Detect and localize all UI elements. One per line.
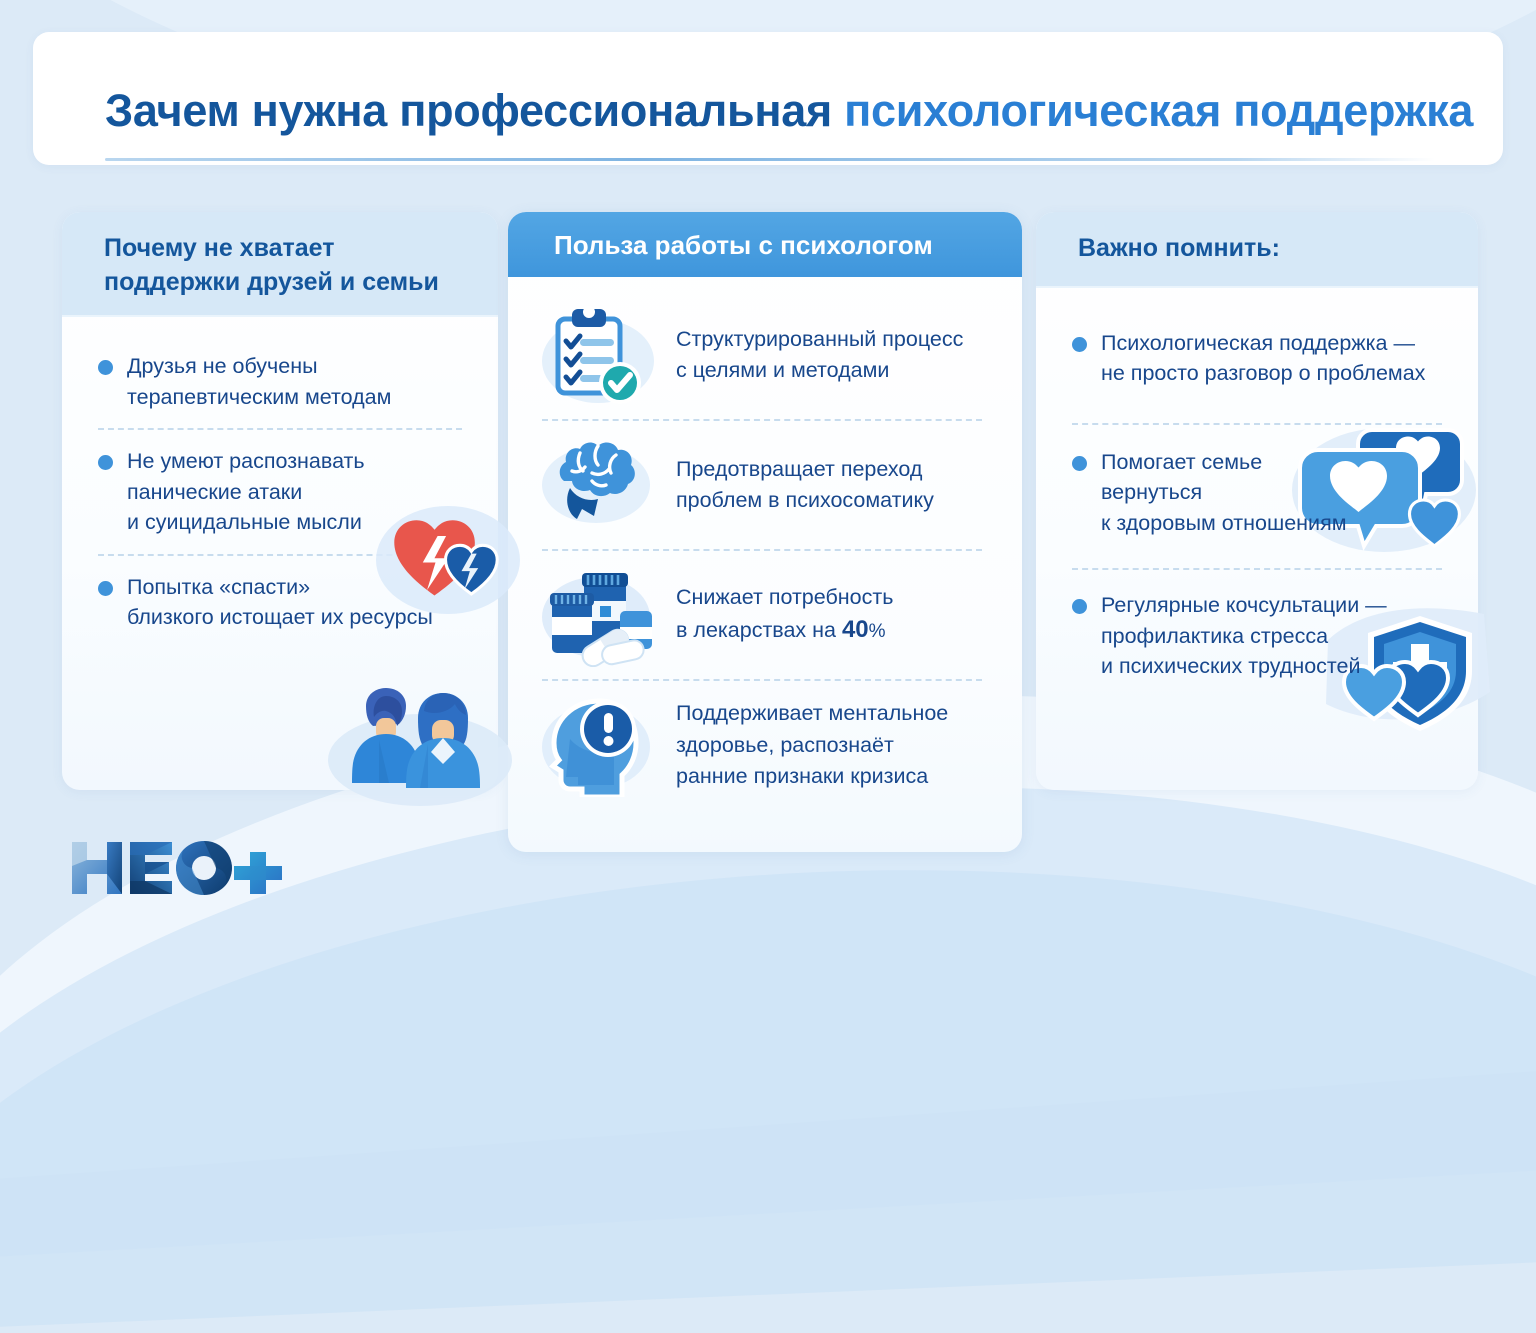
list-item: Друзья не обучены терапевтическим метода… xyxy=(92,335,468,428)
background-wave-3 xyxy=(0,831,1536,1332)
page-title-part-1: Зачем нужна профессиональная xyxy=(105,85,832,136)
page-title-part-2: психологическая поддержка xyxy=(832,85,1473,136)
list-item: Психологическая поддержка — не просто ра… xyxy=(1066,312,1448,405)
bullet-dot-icon xyxy=(1072,337,1087,352)
left-header-line-1: Почему не хватает xyxy=(104,232,464,266)
card-benefits-of-psychologist: Польза работы с психологом xyxy=(508,212,1022,852)
benefit-unit: % xyxy=(869,621,886,642)
list-item-text: Не умеют распознавать панические атаки и… xyxy=(127,446,365,538)
neo-plus-logo xyxy=(68,836,288,900)
bullet-dot-icon xyxy=(98,581,113,596)
left-column-header: Почему не хватает поддержки друзей и сем… xyxy=(62,212,498,317)
head-alert-icon xyxy=(536,693,660,797)
bullet-dot-icon xyxy=(1072,456,1087,471)
list-item-text: Поддерживает ментальное здоровье, распоз… xyxy=(676,698,948,792)
right-bullet-list: Психологическая поддержка — не просто ра… xyxy=(1036,288,1478,708)
list-item: Снижает потребность в лекарствах на 40% xyxy=(532,551,996,679)
title-underline xyxy=(105,158,1435,161)
benefits-list: Структурированный процесс с целями и мет… xyxy=(508,277,1022,821)
brain-icon xyxy=(536,433,660,537)
list-item: Регулярные кочсультации — профилактика с… xyxy=(1066,570,1448,698)
right-column-header: Важно помнить: xyxy=(1036,212,1478,288)
page-title: Зачем нужна профессиональная психологиче… xyxy=(105,88,1473,133)
bullet-dot-icon xyxy=(98,360,113,375)
list-item: Не умеют распознавать панические атаки и… xyxy=(92,430,468,554)
middle-column-header: Польза работы с психологом xyxy=(508,212,1022,277)
list-item-text: Снижает потребность в лекарствах на 40% xyxy=(676,582,893,648)
right-header-text: Важно помнить: xyxy=(1078,232,1444,266)
list-item-text: Попытка «спасти» близкого истощает их ре… xyxy=(127,572,433,633)
title-card: Зачем нужна профессиональная психологиче… xyxy=(33,32,1503,165)
middle-header-text: Польза работы с психологом xyxy=(554,230,992,261)
card-why-friends-not-enough: Почему не хватает поддержки друзей и сем… xyxy=(62,212,498,790)
list-item: Поддерживает ментальное здоровье, распоз… xyxy=(532,681,996,809)
list-item-text: Психологическая поддержка — не просто ра… xyxy=(1101,328,1425,389)
list-item-text: Предотвращает переход проблем в психосом… xyxy=(676,454,934,516)
list-item: Попытка «спасти» близкого истощает их ре… xyxy=(92,556,468,649)
clipboard-checklist-icon xyxy=(536,303,660,407)
card-important-to-remember: Важно помнить: Психологическая поддержка… xyxy=(1036,212,1478,790)
list-item-text: Структурированный процесс с целями и мет… xyxy=(676,324,963,386)
list-item: Помогает семье вернуться к здоровым отно… xyxy=(1066,425,1448,555)
bullet-dot-icon xyxy=(1072,599,1087,614)
medicine-bottles-icon xyxy=(536,563,660,667)
benefit-value: 40 xyxy=(842,616,869,643)
list-item: Структурированный процесс с целями и мет… xyxy=(532,291,996,419)
list-item-text: Помогает семье вернуться к здоровым отно… xyxy=(1101,447,1347,539)
list-item: Предотвращает переход проблем в психосом… xyxy=(532,421,996,549)
bullet-dot-icon xyxy=(98,455,113,470)
list-item-text: Регулярные кочсультации — профилактика с… xyxy=(1101,590,1387,682)
left-bullet-list: Друзья не обучены терапевтическим метода… xyxy=(62,317,498,659)
list-item-text: Друзья не обучены терапевтическим метода… xyxy=(127,351,391,412)
left-header-line-2: поддержки друзей и семьи xyxy=(104,266,464,300)
